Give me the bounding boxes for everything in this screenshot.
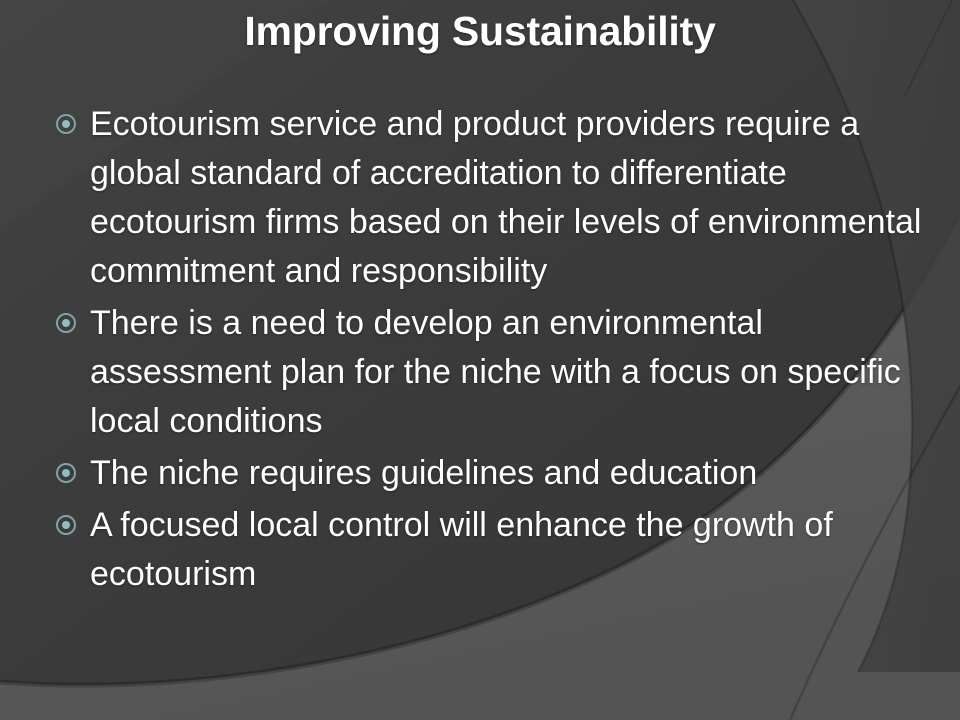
ring-dot-bullet-icon (56, 313, 76, 333)
list-item: The niche requires guidelines and educat… (56, 449, 936, 498)
list-item-text: A focused local control will enhance the… (90, 501, 936, 599)
ring-dot-bullet-icon (56, 515, 76, 535)
bullet-list: Ecotourism service and product providers… (56, 100, 936, 602)
list-item-text: There is a need to develop an environmen… (90, 299, 936, 446)
presentation-slide: Improving Sustainability Ecotourism serv… (0, 0, 960, 720)
ring-dot-bullet-icon (56, 463, 76, 483)
ring-dot-bullet-icon (56, 114, 76, 134)
list-item-text: The niche requires guidelines and educat… (90, 449, 936, 498)
list-item-text: Ecotourism service and product providers… (90, 100, 936, 296)
list-item: There is a need to develop an environmen… (56, 299, 936, 446)
list-item: Ecotourism service and product providers… (56, 100, 936, 296)
page-title: Improving Sustainability (244, 8, 715, 55)
title-area: Improving Sustainability (0, 8, 960, 55)
list-item: A focused local control will enhance the… (56, 501, 936, 599)
